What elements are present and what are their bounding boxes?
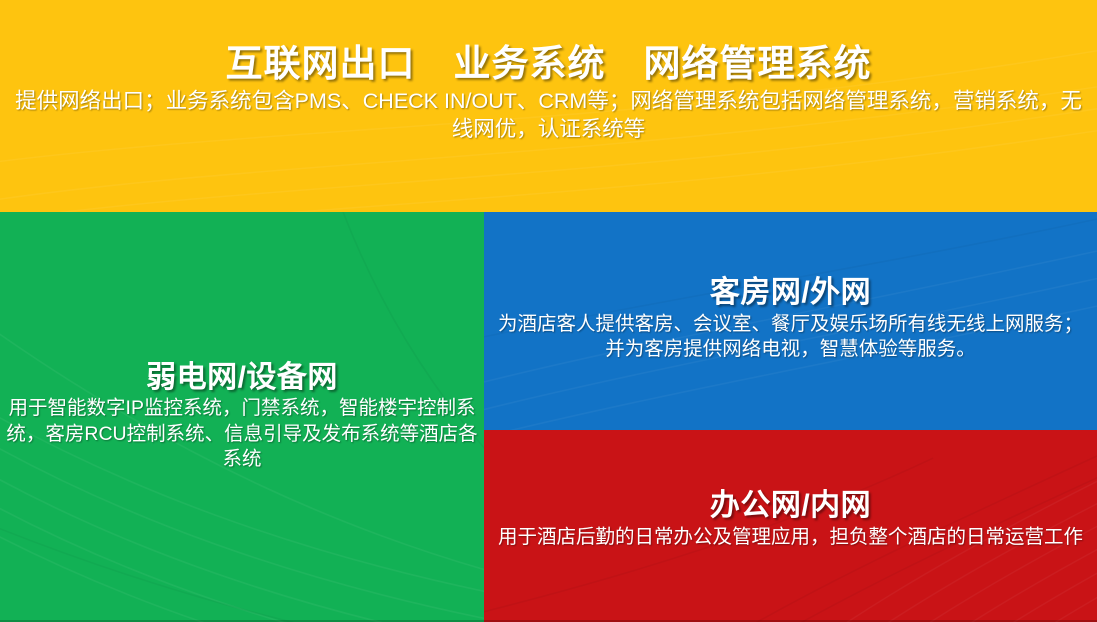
green-panel-description: 用于智能数字IP监控系统，门禁系统，智能楼宇控制系统，客房RCU控制系统、信息引… — [3, 396, 481, 472]
banner-description: 提供网络出口；业务系统包含PMS、CHECK IN/OUT、CRM等；网络管理系… — [6, 88, 1091, 144]
slide-canvas: 互联网出口 业务系统 网络管理系统 提供网络出口；业务系统包含PMS、CHECK… — [0, 0, 1097, 622]
red-panel-content: 办公网/内网 用于酒店后勤的日常办公及管理应用，担负整个酒店的日常运营工作 — [484, 430, 1097, 622]
panel-guest-room-network: 客房网/外网 为酒店客人提供客房、会议室、餐厅及娱乐场所有线无线上网服务；并为客… — [484, 212, 1097, 430]
banner-title: 互联网出口 业务系统 网络管理系统 — [226, 44, 872, 83]
green-panel-content: 弱电网/设备网 用于智能数字IP监控系统，门禁系统，智能楼宇控制系统，客房RCU… — [0, 212, 484, 622]
red-panel-title: 办公网/内网 — [710, 490, 871, 522]
green-panel-title: 弱电网/设备网 — [146, 362, 338, 394]
red-panel-description: 用于酒店后勤的日常办公及管理应用，担负整个酒店的日常运营工作 — [489, 525, 1093, 550]
blue-panel-description: 为酒店客人提供客房、会议室、餐厅及娱乐场所有线无线上网服务；并为客房提供网络电视… — [491, 312, 1091, 363]
panel-office-network: 办公网/内网 用于酒店后勤的日常办公及管理应用，担负整个酒店的日常运营工作 — [484, 430, 1097, 622]
banner-panel-internet-exit: 互联网出口 业务系统 网络管理系统 提供网络出口；业务系统包含PMS、CHECK… — [0, 0, 1097, 212]
blue-panel-content: 客房网/外网 为酒店客人提供客房、会议室、餐厅及娱乐场所有线无线上网服务；并为客… — [484, 212, 1097, 430]
banner-content: 互联网出口 业务系统 网络管理系统 提供网络出口；业务系统包含PMS、CHECK… — [0, 0, 1097, 212]
blue-panel-title: 客房网/外网 — [710, 277, 871, 309]
panel-weak-current-network: 弱电网/设备网 用于智能数字IP监控系统，门禁系统，智能楼宇控制系统，客房RCU… — [0, 212, 484, 622]
